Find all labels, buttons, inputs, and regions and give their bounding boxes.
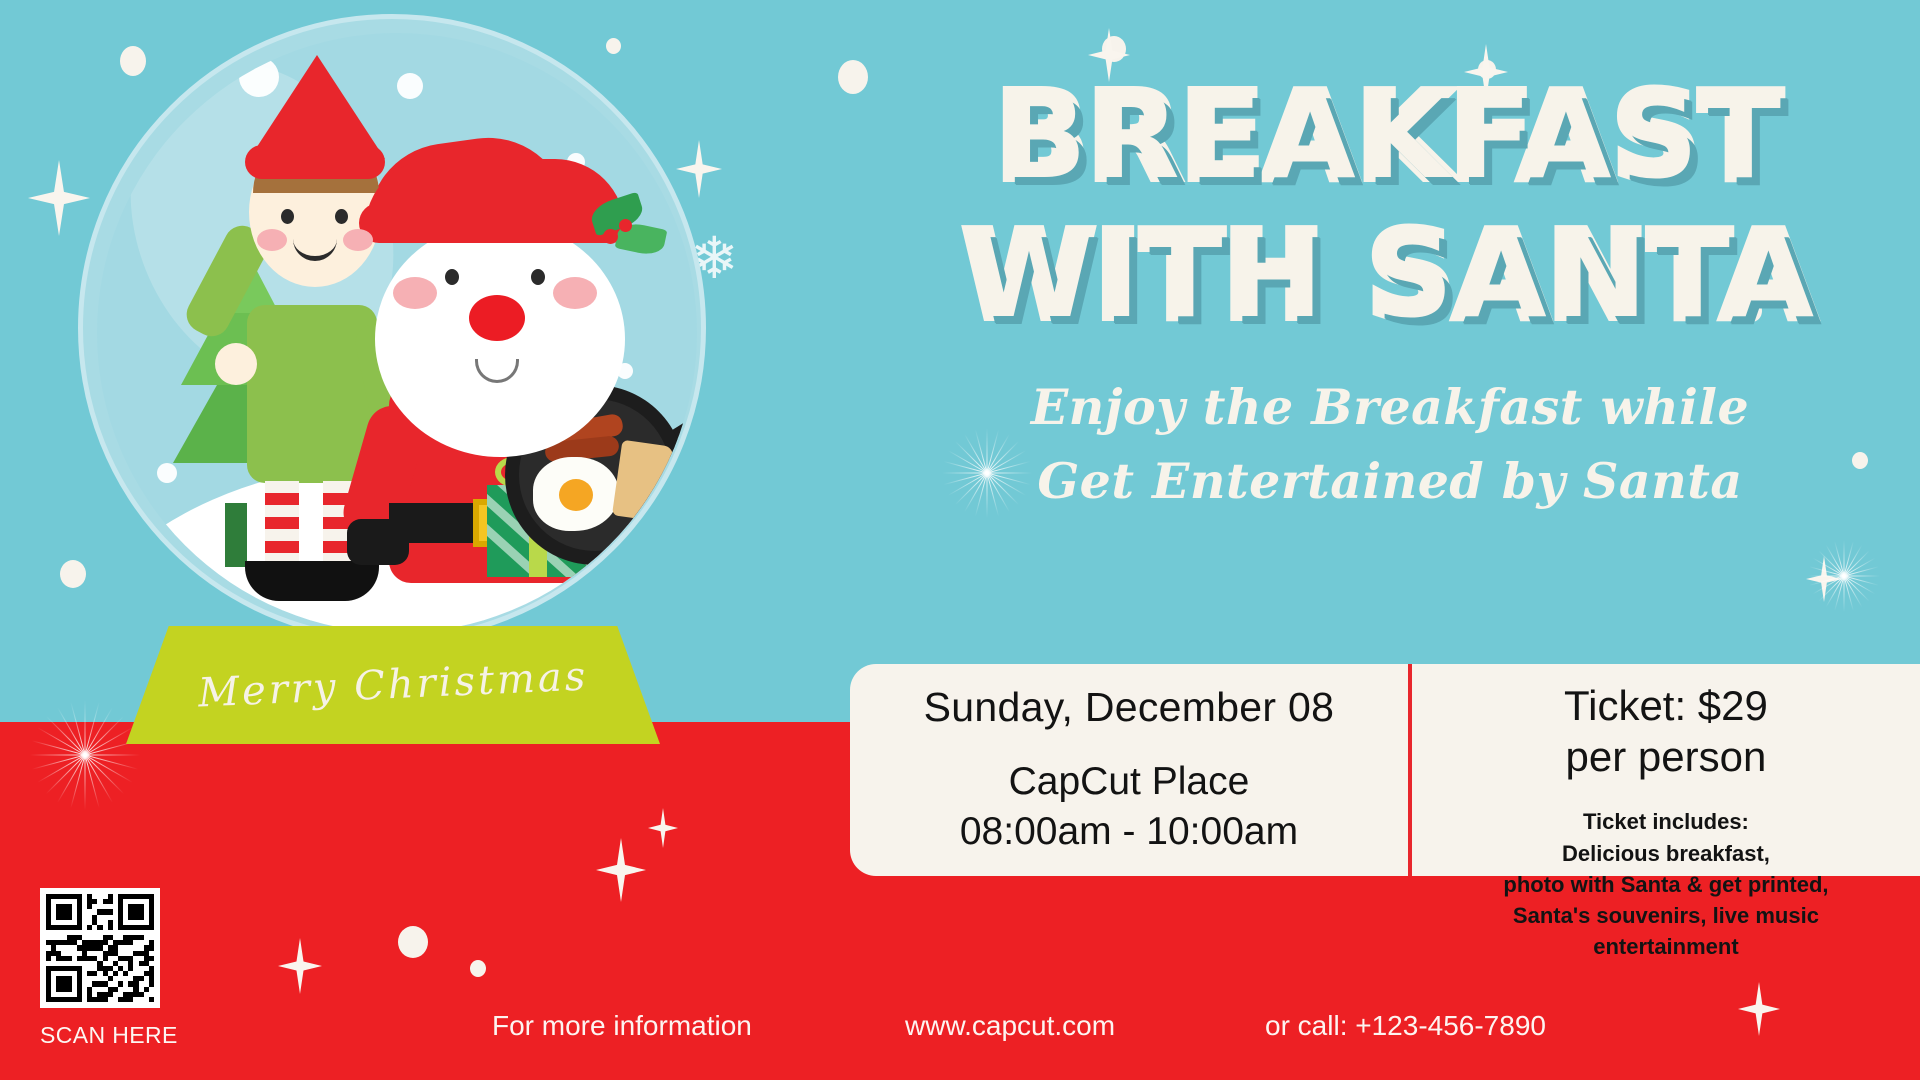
info-panels: Sunday, December 08 CapCut Place 08:00am… (850, 664, 1920, 876)
event-time: 08:00am - 10:00am (960, 807, 1298, 857)
snow-globe: Merry Christmas (78, 14, 718, 804)
ticket-includes-line-1: Delicious breakfast, (1562, 838, 1770, 869)
title-line-1: BREAKFAST (860, 80, 1920, 193)
footer-website[interactable]: www.capcut.com (905, 1010, 1115, 1042)
footer-more-info: For more information (492, 1010, 752, 1042)
ticket-panel: Ticket: $29 per person Ticket includes: … (1412, 664, 1920, 876)
globe-base: Merry Christmas (126, 626, 660, 744)
footer-phone[interactable]: or call: +123-456-7890 (1265, 1010, 1546, 1042)
event-venue: CapCut Place (1009, 757, 1250, 807)
ticket-price: Ticket: $29 (1564, 680, 1768, 731)
flyer-canvas: ❄ ❄ ❄ (0, 0, 1920, 1080)
ticket-includes-heading: Ticket includes: (1583, 806, 1749, 837)
ticket-includes-line-3: Santa's souvenirs, live music (1513, 900, 1819, 931)
event-date: Sunday, December 08 (924, 684, 1335, 731)
subtitle-line-2: Get Entertained by Santa (860, 452, 1920, 510)
footer-bar: For more information www.capcut.com or c… (0, 1000, 1920, 1062)
merry-christmas-text: Merry Christmas (197, 654, 589, 717)
event-title: BREAKFAST WITH SANTA (860, 80, 1920, 333)
ticket-includes-line-4: entertainment (1593, 931, 1738, 962)
event-details-panel: Sunday, December 08 CapCut Place 08:00am… (850, 664, 1408, 876)
ticket-price-unit: per person (1566, 731, 1767, 782)
subtitle-line-1: Enjoy the Breakfast while (860, 378, 1920, 436)
ticket-includes-line-2: photo with Santa & get printed, (1503, 869, 1828, 900)
title-line-2: WITH SANTA (860, 219, 1920, 332)
qr-code[interactable] (40, 888, 160, 1008)
